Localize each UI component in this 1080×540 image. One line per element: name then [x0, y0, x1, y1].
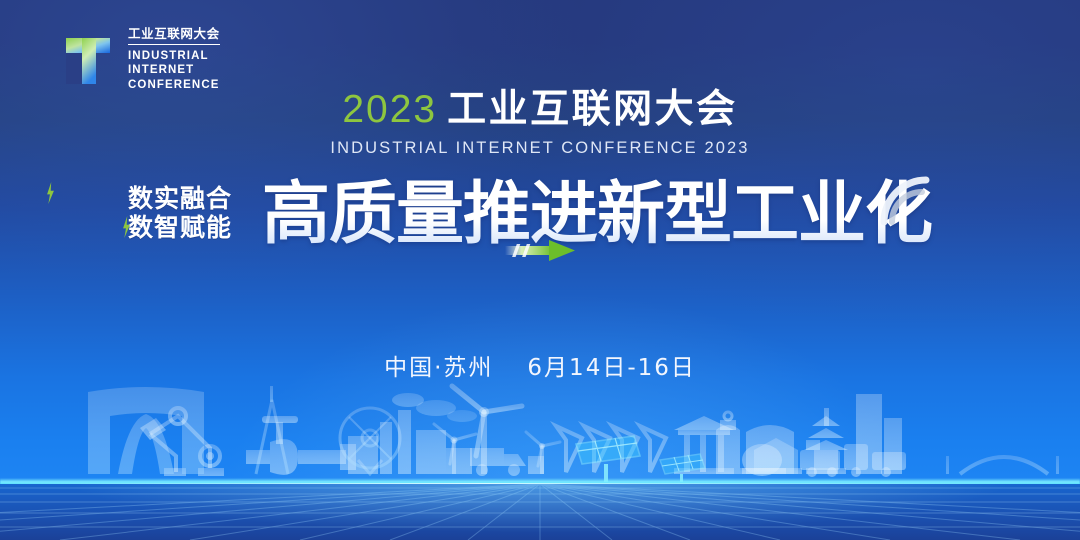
slogan-main-text: 高质量推进新型工业化: [262, 178, 932, 251]
slogan-small-line-1: 数实融合: [128, 186, 232, 211]
conference-logo: 工业互联网大会 INDUSTRIAL INTERNET CONFERENCE: [56, 28, 220, 93]
green-arrow-icon: [505, 238, 577, 264]
logo-english-name: INDUSTRIAL INTERNET CONFERENCE: [128, 49, 220, 94]
logo-en-line-1: INDUSTRIAL: [128, 49, 220, 64]
logo-mark-icon: [56, 32, 116, 90]
title-block: 2023工业互联网大会 INDUSTRIAL INTERNET CONFEREN…: [0, 90, 1080, 158]
slogan-small-lines: 数实融合 数智赋能: [128, 186, 232, 240]
slogan-small-line-2: 数智赋能: [128, 215, 232, 240]
conference-poster: 工业互联网大会 INDUSTRIAL INTERNET CONFERENCE 2…: [0, 0, 1080, 540]
perspective-grid-floor: [0, 484, 1080, 540]
logo-en-line-2: INTERNET: [128, 63, 220, 78]
logo-chinese-name: 工业互联网大会: [128, 28, 220, 45]
title-chinese: 工业互联网大会: [447, 88, 738, 131]
main-title: 2023工业互联网大会: [0, 90, 1080, 129]
industrial-city-skyline: [0, 364, 1080, 484]
title-year: 2023: [342, 88, 437, 131]
lightning-bolt-icon: [46, 182, 55, 204]
wifi-signal-icon: [878, 172, 936, 230]
title-subtitle: INDUSTRIAL INTERNET CONFERENCE 2023: [0, 139, 1080, 158]
